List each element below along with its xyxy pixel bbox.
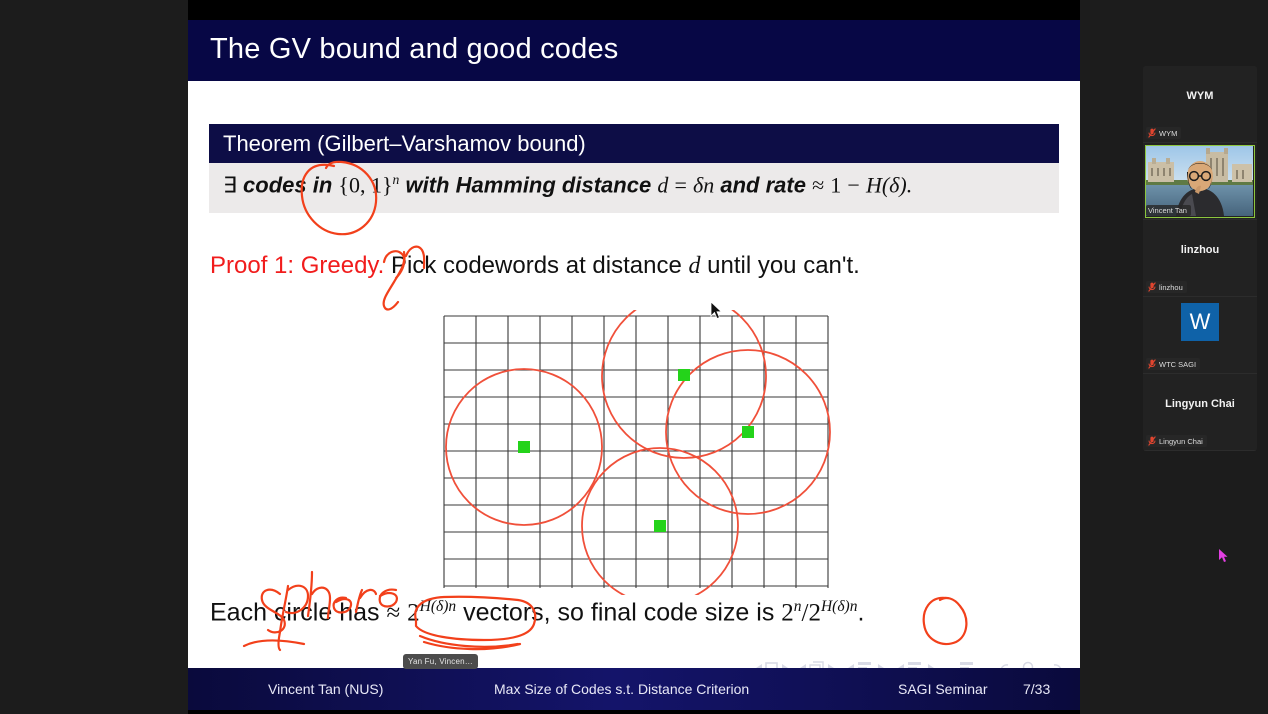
theorem-statement: ∃ codes in {0, 1}n with Hamming distance… bbox=[223, 172, 912, 198]
slide-title-bar: The GV bound and good codes bbox=[188, 20, 1080, 81]
muted-mic-icon bbox=[1148, 359, 1156, 369]
participant-badge: linzhou bbox=[1146, 281, 1187, 293]
participant-badge-label: linzhou bbox=[1159, 283, 1183, 292]
codeword-point bbox=[678, 369, 690, 381]
participant-badge: Vincent Tan bbox=[1146, 205, 1191, 216]
pow1-exponent: H(δ)n bbox=[420, 598, 456, 615]
binary-set: {0, 1} bbox=[338, 172, 392, 197]
minus-sign: − bbox=[847, 172, 859, 197]
equals-sign: = bbox=[674, 172, 686, 197]
pow3-base: 2 bbox=[808, 599, 821, 626]
participant-badge-label: Vincent Tan bbox=[1148, 206, 1187, 215]
proof-text-b: until you can't. bbox=[700, 252, 859, 279]
set-exponent: n bbox=[393, 172, 400, 187]
ink-scribble-entropy-term bbox=[420, 636, 520, 649]
one-literal: 1 bbox=[830, 172, 841, 197]
final-text-b: vectors, so final code size is bbox=[456, 598, 781, 626]
screen-share-region: The GV bound and good codes Theorem (Gil… bbox=[188, 0, 1080, 714]
theorem-header-block: Theorem (Gilbert–Varshamov bound) bbox=[209, 124, 1059, 163]
slide-footer: Vincent Tan (NUS) Max Size of Codes s.t.… bbox=[188, 668, 1080, 710]
participant-name: WYM bbox=[1143, 90, 1257, 102]
codeword-point bbox=[742, 426, 754, 438]
participant-tile-wtc-sagi[interactable]: W WTC SAGI bbox=[1143, 297, 1257, 374]
final-period: . bbox=[857, 598, 864, 626]
participant-badge-label: WTC SAGI bbox=[1159, 360, 1196, 369]
muted-mic-icon bbox=[1148, 282, 1156, 292]
distance-var: d bbox=[657, 172, 668, 197]
participant-badge: WYM bbox=[1146, 127, 1181, 139]
exists-symbol: ∃ bbox=[223, 172, 237, 197]
sphere-packing-diagram bbox=[436, 310, 856, 595]
final-text-a: Each circle has bbox=[210, 598, 386, 626]
page-title: The GV bound and good codes bbox=[210, 33, 618, 66]
footer-author: Vincent Tan (NUS) bbox=[268, 681, 383, 697]
participant-name: Lingyun Chai bbox=[1143, 398, 1257, 410]
final-approx: ≈ bbox=[386, 599, 400, 626]
muted-mic-icon bbox=[1148, 436, 1156, 446]
proof-line: Proof 1: Greedy. Pick codewords at dista… bbox=[210, 252, 860, 280]
diagram-svg bbox=[436, 310, 856, 595]
avatar: W bbox=[1181, 303, 1219, 341]
participant-tile-vincent-tan[interactable]: Vincent Tan bbox=[1143, 143, 1257, 220]
footer-event: SAGI Seminar bbox=[898, 681, 987, 697]
proof-distance-var: d bbox=[688, 253, 700, 279]
participant-badge: Lingyun Chai bbox=[1146, 435, 1207, 447]
and-rate-text: and rate bbox=[720, 172, 806, 197]
muted-mic-icon bbox=[1148, 128, 1156, 138]
pow1-base: 2 bbox=[407, 599, 420, 626]
pow2-exponent: n bbox=[794, 598, 802, 615]
hamming-spheres bbox=[446, 310, 830, 595]
proof-text-a: Pick codewords at distance bbox=[384, 252, 688, 279]
entropy-arg: (δ). bbox=[882, 172, 912, 197]
footer-talk-title: Max Size of Codes s.t. Distance Criterio… bbox=[494, 681, 749, 697]
screen-root: The GV bound and good codes Theorem (Gil… bbox=[0, 0, 1268, 714]
presentation-slide: The GV bound and good codes Theorem (Gil… bbox=[188, 20, 1080, 690]
annotation-author-tag: Yan Fu, Vincen… bbox=[403, 654, 478, 669]
pow2-base: 2 bbox=[781, 599, 794, 626]
ink-circle-two-power-n bbox=[924, 598, 967, 644]
codeword-point bbox=[518, 441, 530, 453]
participant-tile-linzhou[interactable]: linzhou linzhou bbox=[1143, 220, 1257, 297]
participant-name: linzhou bbox=[1143, 244, 1257, 256]
ink-underline-each-circle bbox=[244, 641, 304, 647]
final-code-size-line: Each circle has ≈ 2H(δ)n vectors, so fin… bbox=[210, 598, 864, 627]
delta-n: δn bbox=[693, 172, 714, 197]
codeword-point bbox=[654, 520, 666, 532]
participant-badge-label: Lingyun Chai bbox=[1159, 437, 1203, 446]
participant-badge-label: WYM bbox=[1159, 129, 1177, 138]
theorem-body-block: ∃ codes in {0, 1}n with Hamming distance… bbox=[209, 163, 1059, 213]
participant-tile-lingyun-chai[interactable]: Lingyun Chai Lingyun Chai bbox=[1143, 374, 1257, 451]
pow3-exponent: H(δ)n bbox=[821, 598, 857, 615]
participant-badge: WTC SAGI bbox=[1146, 358, 1200, 370]
desktop-mouse-cursor bbox=[1218, 548, 1230, 564]
approx-sign: ≈ bbox=[812, 172, 824, 197]
sphere-2 bbox=[602, 310, 766, 458]
participant-tile-wym[interactable]: WYM WYM bbox=[1143, 66, 1257, 143]
participant-video-strip[interactable]: WYM WYM bbox=[1143, 66, 1257, 451]
theorem-header-text: Theorem (Gilbert–Varshamov bound) bbox=[223, 131, 586, 157]
proof-label: Proof 1: Greedy. bbox=[210, 252, 384, 279]
entropy-H: H bbox=[866, 172, 882, 197]
footer-page-number: 7/33 bbox=[1023, 681, 1050, 697]
codes-in-text: codes in bbox=[243, 172, 332, 197]
hamming-distance-text: with Hamming distance bbox=[405, 172, 651, 197]
